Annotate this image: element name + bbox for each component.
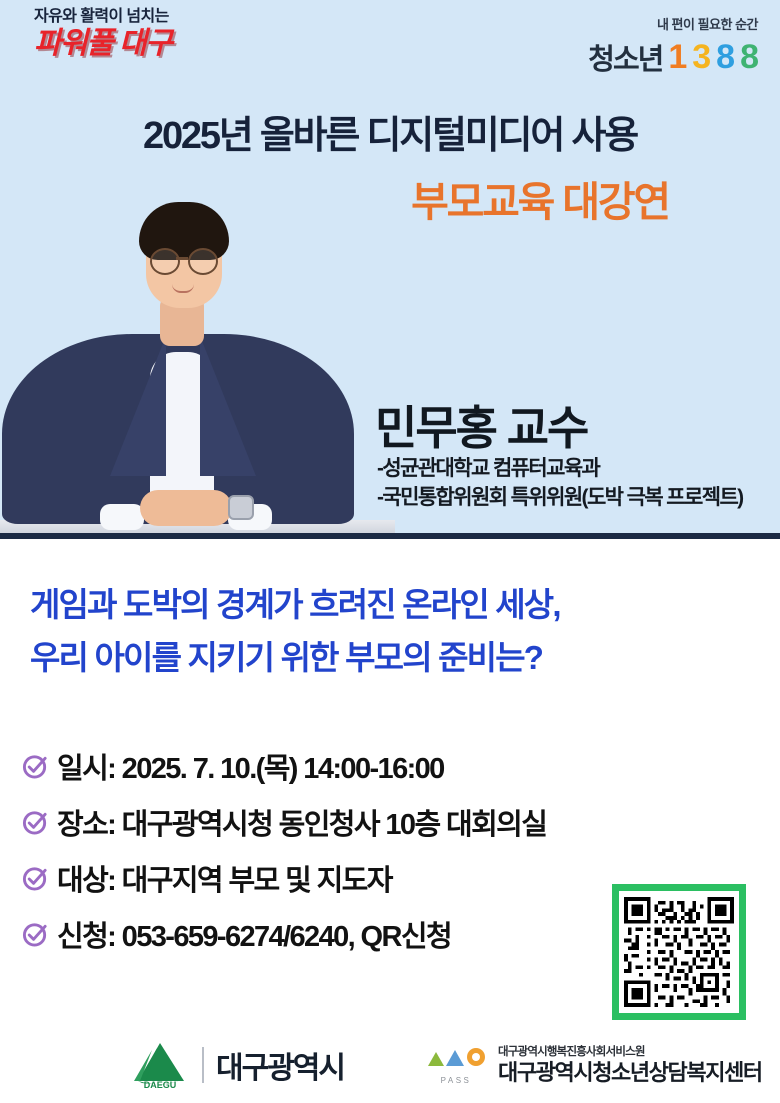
daegu-city-name: 대구광역시 <box>216 1043 344 1087</box>
svg-text:DAEGU: DAEGU <box>144 1080 177 1090</box>
youth-1388-wordmark: 청소년 1 3 8 8 <box>588 36 758 78</box>
powerful-daegu-brand: 파워풀 대구 <box>34 27 234 62</box>
photo-watch <box>228 495 254 520</box>
check-circle-icon <box>22 753 49 780</box>
detail-row-datetime: 일시: 2025. 7. 10.(목) 14:00-16:00 <box>22 738 622 794</box>
photo-cuff-left <box>100 504 144 530</box>
youth-1388-logo: 내 편이 필요한 순간 청소년 1 3 8 8 <box>588 14 758 78</box>
headline-block: 게임과 도박의 경계가 흐려진 온라인 세상, 우리 아이를 지키기 위한 부모… <box>30 578 760 685</box>
daegu-city-logo: DAEGU 대구광역시 <box>130 1040 344 1090</box>
speaker-name: 민무홍 교수 <box>375 392 587 458</box>
event-details-list: 일시: 2025. 7. 10.(목) 14:00-16:00 장소: 대구광역… <box>22 738 622 962</box>
photo-hands <box>140 490 232 526</box>
youth-1388-digit-4: 8 <box>740 38 758 77</box>
pass-chevrons-icon: PASS <box>424 1044 488 1088</box>
check-circle-icon <box>22 865 49 892</box>
photo-hair <box>139 202 229 260</box>
speaker-affiliation-1: -성균관대학교 컴퓨터교육과 <box>377 455 777 484</box>
check-circle-icon <box>22 921 49 948</box>
detail-text-datetime: 일시: 2025. 7. 10.(목) 14:00-16:00 <box>57 745 444 787</box>
pass-center-logo: PASS 대구광역시행복진흥사회서비스원 대구광역시청소년상담복지센터 <box>424 1044 762 1088</box>
powerful-daegu-tagline: 자유와 활력이 넘치는 <box>34 8 234 26</box>
speaker-affiliations: -성균관대학교 컴퓨터교육과 -국민통합위원회 특위위원(도박 극복 프로젝트) <box>377 455 777 513</box>
poster-title-line1: 2025년 올바른 디지털미디어 사용 <box>0 104 780 159</box>
detail-row-location: 장소: 대구광역시청 동인청사 10층 대회의실 <box>22 794 622 850</box>
detail-row-audience: 대상: 대구지역 부모 및 지도자 <box>22 850 622 906</box>
pass-text-block: 대구광역시행복진흥사회서비스원 대구광역시청소년상담복지센터 <box>498 1046 762 1086</box>
detail-row-apply: 신청: 053-659-6274/6240, QR신청 <box>22 906 622 962</box>
detail-text-location: 장소: 대구광역시청 동인청사 10층 대회의실 <box>57 801 546 843</box>
poster-canvas: 자유와 활력이 넘치는 파워풀 대구 내 편이 필요한 순간 청소년 1 3 8… <box>0 0 780 1103</box>
footer-divider <box>202 1047 204 1083</box>
youth-1388-digit-1: 1 <box>668 38 686 77</box>
youth-1388-tagline: 내 편이 필요한 순간 <box>588 14 758 33</box>
daegu-mountain-icon: DAEGU <box>130 1040 190 1090</box>
speaker-photo <box>0 178 395 534</box>
pass-wordmark: PASS <box>441 1076 472 1085</box>
pass-center-name: 대구광역시청소년상담복지센터 <box>498 1060 762 1086</box>
panel-divider <box>0 533 780 539</box>
pass-org-line: 대구광역시행복진흥사회서비스원 <box>498 1046 762 1060</box>
footer-logos: DAEGU 대구광역시 PASS 대구광역시행복진흥사회서비스원 대구광역시청소… <box>0 1036 780 1103</box>
detail-text-audience: 대상: 대구지역 부모 및 지도자 <box>57 857 392 899</box>
headline-line-1: 게임과 도박의 경계가 흐려진 온라인 세상, <box>30 578 760 631</box>
top-banner-panel: 자유와 활력이 넘치는 파워풀 대구 내 편이 필요한 순간 청소년 1 3 8… <box>0 0 780 537</box>
youth-1388-digit-2: 3 <box>692 38 710 77</box>
detail-text-apply: 신청: 053-659-6274/6240, QR신청 <box>57 913 451 955</box>
speaker-affiliation-2: -국민통합위원회 특위위원(도박 극복 프로젝트) <box>377 484 777 513</box>
photo-glasses-bridge <box>176 257 188 260</box>
youth-1388-digit-3: 8 <box>716 38 734 77</box>
photo-glasses-right <box>188 248 218 275</box>
youth-1388-word: 청소년 <box>588 36 662 78</box>
headline-line-2: 우리 아이를 지키기 위한 부모의 준비는? <box>30 631 760 684</box>
check-circle-icon <box>22 809 49 836</box>
qr-code[interactable] <box>612 884 746 1020</box>
powerful-daegu-logo: 자유와 활력이 넘치는 파워풀 대구 <box>34 8 234 61</box>
photo-glasses-left <box>150 248 180 275</box>
